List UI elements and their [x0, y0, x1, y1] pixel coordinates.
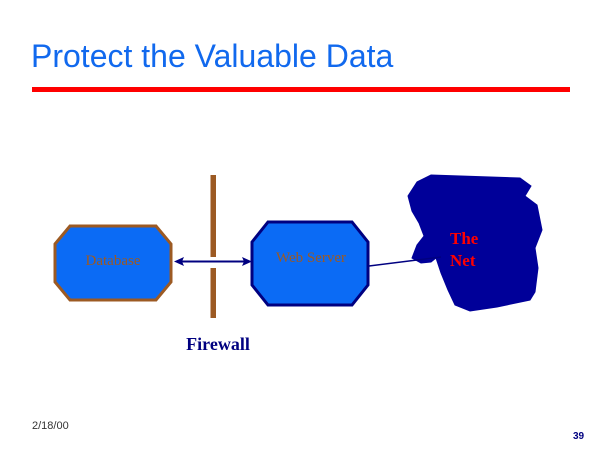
slide-canvas: Protect the Valuable Data Database Web S…	[0, 0, 600, 450]
slide-date: 2/18/00	[32, 420, 69, 432]
the-net-label-line-2: Net	[450, 250, 516, 272]
slide-page-number: 39	[573, 431, 584, 442]
database-node-label: Database	[55, 253, 171, 270]
network-diagram	[0, 0, 600, 450]
firewall-bar-upper	[211, 175, 217, 257]
web-server-node-label: Web Server	[252, 250, 370, 267]
the-net-node-label: The Net	[450, 228, 516, 272]
firewall-label: Firewall	[160, 334, 276, 355]
the-net-label-line-1: The	[450, 228, 516, 250]
firewall-bar-lower	[211, 268, 217, 318]
